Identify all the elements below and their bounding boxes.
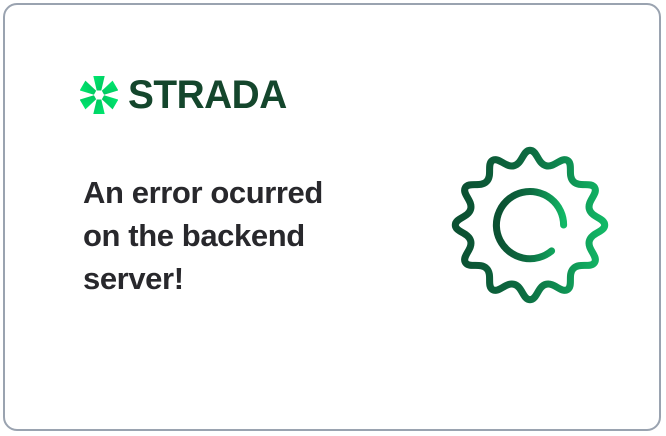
error-message: An error ocurred on the backend server! [83,171,383,300]
error-message-line-1: An error ocurred [83,171,383,214]
error-message-line-3: server! [83,257,383,300]
brand-lockup: STRADA [80,75,292,115]
error-card: STRADA An error ocurred on the backend s… [3,3,661,431]
gear-cog-icon [447,141,613,309]
brand-wordmark: STRADA [128,75,287,115]
strada-asterisk-icon [80,76,118,114]
error-message-line-2: on the backend [83,214,383,257]
gear-illustration [447,141,613,309]
